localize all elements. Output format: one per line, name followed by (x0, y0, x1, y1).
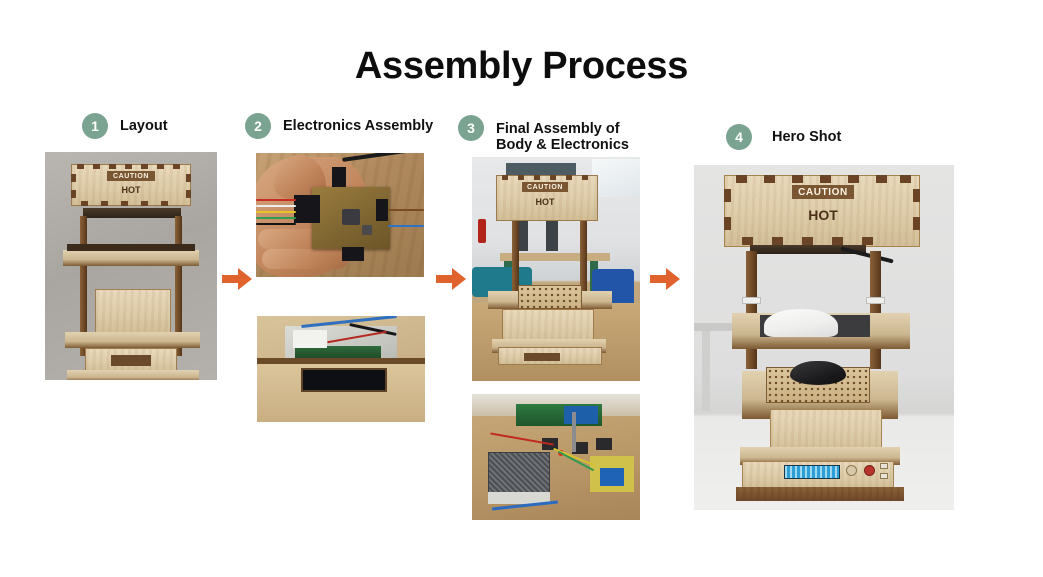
mid-shelf (65, 332, 200, 348)
support-post-left (512, 221, 519, 295)
finger-notch (802, 237, 813, 245)
step-header-2: 2 Electronics Assembly (245, 113, 433, 139)
window (592, 159, 640, 197)
push-button (362, 225, 372, 235)
step-label-4: Hero Shot (772, 124, 841, 145)
post-clamp (866, 297, 885, 304)
post-clamp (742, 297, 761, 304)
arrow-right-icon (220, 264, 254, 294)
arrow-1-to-2 (220, 264, 254, 294)
caution-engraving: CAUTION (107, 171, 155, 181)
finger-notch (157, 164, 164, 169)
finger-notch (566, 175, 572, 180)
arrow-3-to-4 (648, 264, 682, 294)
photo-step1-layout: CAUTION HOT (45, 152, 217, 380)
finger-notch (742, 237, 753, 245)
wire-brown (388, 209, 424, 211)
finger-notch (832, 237, 843, 245)
finger-notch (125, 164, 132, 169)
finger-notch (792, 175, 803, 183)
page-title: Assembly Process (0, 45, 1043, 88)
finger-notch (121, 201, 128, 206)
computer-mouse (790, 361, 846, 385)
step-badge-1: 1 (82, 113, 108, 139)
finger-notch (820, 175, 831, 183)
finger-notch (77, 164, 84, 169)
upper-shelf-edge (67, 244, 195, 251)
finger-notch (848, 175, 859, 183)
arrow-right-icon (434, 264, 468, 294)
side-rail (702, 331, 710, 411)
blue-component (600, 468, 624, 486)
finger-notch (900, 175, 911, 183)
wire-red (256, 199, 296, 201)
pin-header (376, 199, 388, 221)
arrow-2-to-3 (434, 264, 468, 294)
finger-notch (141, 201, 148, 206)
finger-notch (161, 201, 168, 206)
arrow-right-icon (648, 264, 682, 294)
step-label-3: Final Assembly of Body & Electronics (496, 115, 629, 153)
finger-notch (518, 175, 524, 180)
microcontroller-chip (342, 209, 360, 225)
pin-header (332, 167, 346, 187)
step-badge-3: 3 (458, 115, 484, 141)
wire-green (256, 217, 296, 219)
lcd-display-slot (301, 368, 387, 392)
side-notch (913, 217, 920, 230)
photo-step2-enclosure (257, 316, 425, 422)
wire-white (256, 205, 296, 207)
relay-module (564, 406, 598, 424)
front-top-edge (257, 358, 425, 364)
step-label-2: Electronics Assembly (283, 113, 433, 134)
photo-step3-wiring (472, 394, 640, 520)
wire-black (256, 223, 296, 225)
finger-notch (81, 201, 88, 206)
hot-engraving: HOT (107, 185, 155, 195)
drill-press (546, 219, 558, 251)
finger-notch (173, 164, 180, 169)
upper-shelf (63, 250, 199, 266)
side-notch (71, 174, 76, 182)
photo-step4-hero: CAUTION HOT (694, 165, 954, 510)
lcd-display (784, 465, 840, 479)
side-notch (913, 189, 920, 202)
step-header-1: 1 Layout (82, 113, 168, 139)
side-notch (724, 189, 731, 202)
side-notch (186, 174, 191, 182)
finger-notch (93, 164, 100, 169)
formed-plastic-sheet (764, 309, 838, 337)
toggle-switch (880, 463, 888, 469)
pin-header (342, 247, 364, 261)
finger-notch (502, 175, 508, 180)
hot-engraving: HOT (792, 207, 854, 223)
side-notch (71, 190, 76, 198)
heater-plate (83, 208, 181, 218)
finger-notch (862, 237, 873, 245)
wire-gray-bundle (572, 412, 576, 452)
wire-blue (388, 225, 424, 227)
step-header-4: 4 Hero Shot (726, 124, 841, 150)
photo-step2-pcb (256, 153, 424, 277)
rotary-knob (846, 465, 857, 476)
finger-notch (772, 237, 783, 245)
base-panel-cutout (524, 353, 560, 361)
caution-engraving: CAUTION (792, 185, 854, 199)
side-rail (694, 323, 734, 331)
finger-notch (101, 201, 108, 206)
terminal-block (596, 438, 612, 450)
finger-notch (550, 175, 556, 180)
photo-step3-workshop: CAUTION HOT (472, 157, 640, 381)
step-badge-2: 2 (245, 113, 271, 139)
step-header-3: 3 Final Assembly of Body & Electronics (458, 115, 629, 153)
step-label-1: Layout (120, 113, 168, 134)
finger-notch (534, 175, 540, 180)
support-post-left (746, 251, 757, 369)
finger (262, 249, 348, 269)
finger-notch (582, 175, 588, 180)
finger-notch (876, 175, 887, 183)
wire-yellow (256, 211, 296, 213)
base-foot (736, 487, 904, 501)
finger-notch (141, 164, 148, 169)
support-post-right (870, 251, 881, 369)
base-plate (67, 370, 199, 380)
emergency-button (864, 465, 875, 476)
finger-notch (764, 175, 775, 183)
label-sticker (293, 330, 327, 348)
pin-header (294, 195, 320, 223)
fire-extinguisher (478, 219, 486, 243)
side-notch (724, 217, 731, 230)
slide-canvas: Assembly Process 1 Layout 2 Electronics … (0, 0, 1043, 577)
caution-engraving: CAUTION (522, 182, 568, 192)
hot-engraving: HOT (522, 197, 568, 207)
side-notch (186, 190, 191, 198)
step-badge-4: 4 (726, 124, 752, 150)
middle-chamber (95, 289, 171, 334)
base-panel-cutout (111, 355, 151, 366)
finger-notch (736, 175, 747, 183)
finger-notch (109, 164, 116, 169)
perforated-bed (518, 285, 582, 309)
toggle-switch (880, 473, 888, 479)
